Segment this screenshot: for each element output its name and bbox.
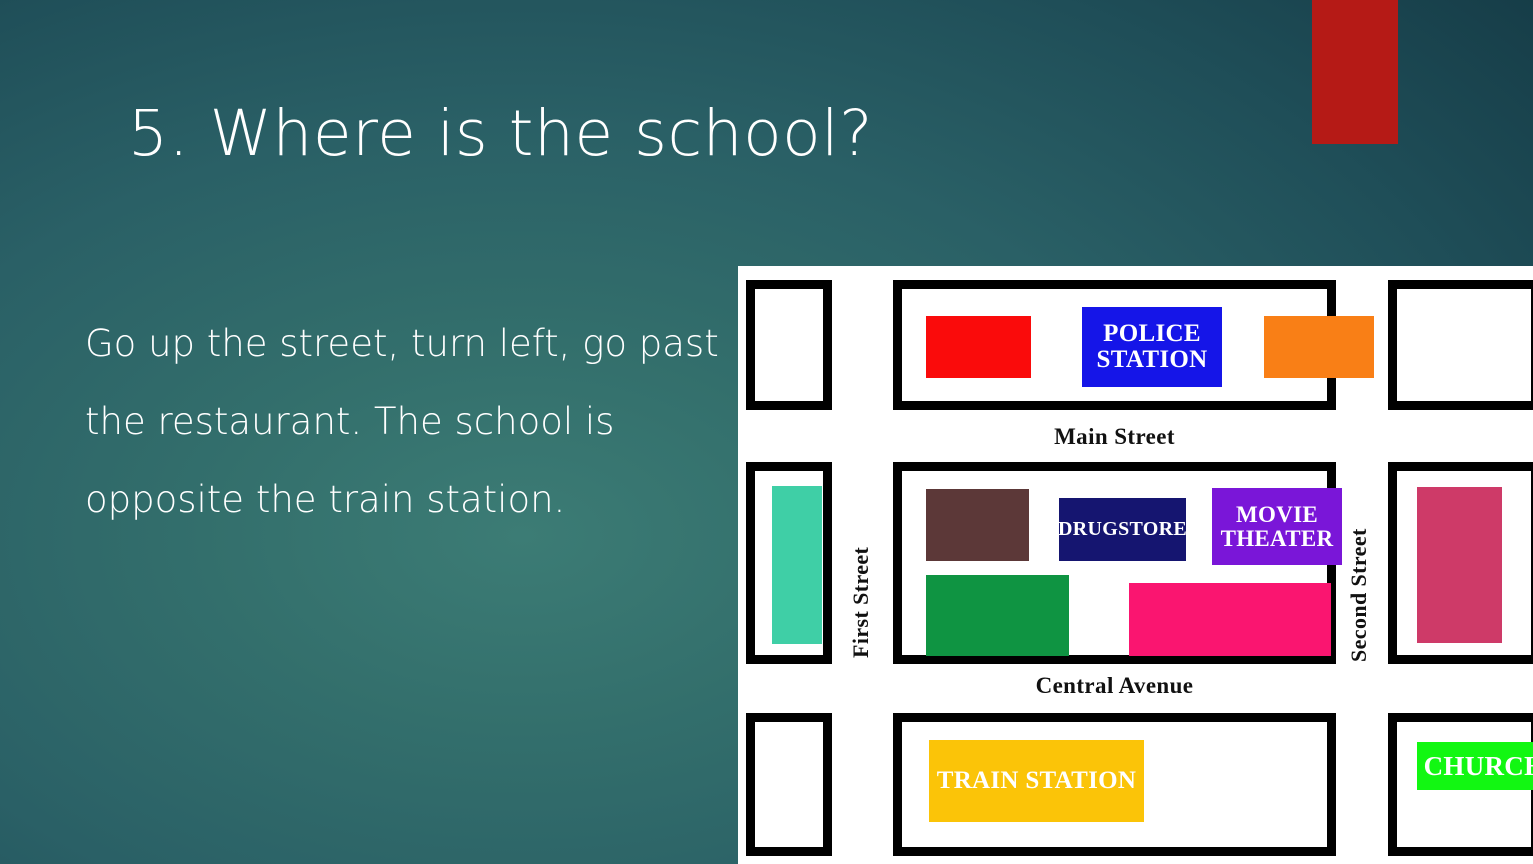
building-brown-unlabeled xyxy=(926,489,1029,561)
building-label-movie-theater: MOVIE THEATER xyxy=(1212,503,1342,551)
page-title: 5. Where is the school? xyxy=(128,100,1178,168)
map-block-middle-center: DRUGSTORE MOVIE THEATER xyxy=(893,462,1336,664)
building-green-unlabeled xyxy=(926,575,1069,656)
street-label-first-street: First Street xyxy=(848,547,874,658)
building-label-drugstore: DRUGSTORE xyxy=(1058,519,1187,540)
street-label-main-street: Main Street xyxy=(893,424,1336,450)
map-block-bottom-left xyxy=(746,713,832,856)
building-orange-unlabeled xyxy=(1264,316,1374,378)
building-label-police-station: POLICE STATION xyxy=(1082,321,1222,373)
building-drugstore: DRUGSTORE xyxy=(1059,498,1186,561)
building-red-unlabeled xyxy=(926,316,1031,378)
building-pink-unlabeled xyxy=(1129,583,1331,656)
street-label-second-street: Second Street xyxy=(1346,528,1372,662)
building-rose-unlabeled xyxy=(1417,487,1502,643)
map-block-top-center: POLICE STATION xyxy=(893,280,1336,410)
red-accent-bar xyxy=(1312,0,1398,144)
building-church: CHURCH xyxy=(1417,742,1533,790)
map-block-middle-left xyxy=(746,462,832,664)
slide-body-text: Go up the street, turn left, go past the… xyxy=(85,305,725,539)
building-label-train-station: TRAIN STATION xyxy=(937,768,1137,794)
map-block-top-right xyxy=(1388,280,1533,410)
map-canvas: POLICE STATION Main Street DRUGSTORE xyxy=(738,266,1533,864)
street-label-central-avenue: Central Avenue xyxy=(893,673,1336,699)
building-movie-theater: MOVIE THEATER xyxy=(1212,488,1342,565)
map-block-bottom-center: TRAIN STATION xyxy=(893,713,1336,856)
city-map-image: POLICE STATION Main Street DRUGSTORE xyxy=(738,266,1533,864)
map-block-bottom-right: CHURCH xyxy=(1388,713,1533,856)
map-block-top-left xyxy=(746,280,832,410)
slide-canvas: 5. Where is the school? Go up the street… xyxy=(0,0,1533,864)
building-teal-unlabeled xyxy=(772,486,822,644)
map-block-middle-right xyxy=(1388,462,1533,664)
building-police-station: POLICE STATION xyxy=(1082,307,1222,387)
building-train-station: TRAIN STATION xyxy=(929,740,1144,822)
building-label-church: CHURCH xyxy=(1424,752,1533,780)
